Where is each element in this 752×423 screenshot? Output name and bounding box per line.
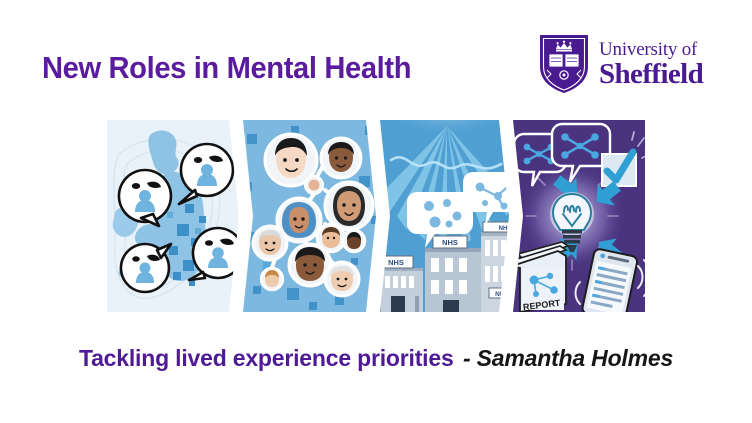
svg-text:NHS: NHS xyxy=(388,258,404,267)
svg-text:NHS: NHS xyxy=(442,238,458,247)
subtitle-text: Tackling lived experience priorities xyxy=(79,345,454,371)
logo-line-sheffield: Sheffield xyxy=(599,60,703,89)
ideas-outputs-panel: REPORT xyxy=(510,120,645,312)
logo-line-university: University of xyxy=(599,40,703,59)
svg-text:NHS: NHS xyxy=(495,291,509,298)
presenter-name: - Samantha Holmes xyxy=(463,345,673,371)
uk-map-voices-panel xyxy=(107,120,247,312)
shield-crest-with-crown-and-open-book-icon xyxy=(538,33,590,95)
slide-header: New Roles in Mental Health xyxy=(0,0,752,118)
presentation-slide: New Roles in Mental Health xyxy=(0,0,752,423)
university-of-sheffield-logo: University of Sheffield xyxy=(538,33,728,95)
page-title: New Roles in Mental Health xyxy=(42,50,411,86)
logo-wordmark: University of Sheffield xyxy=(599,40,703,89)
four-panel-illustration-banner: NHS xyxy=(107,120,645,312)
people-network-panel xyxy=(239,120,384,312)
nhs-buildings-panel: NHS xyxy=(377,120,517,312)
slide-subtitle: Tackling lived experience priorities - S… xyxy=(0,345,752,372)
